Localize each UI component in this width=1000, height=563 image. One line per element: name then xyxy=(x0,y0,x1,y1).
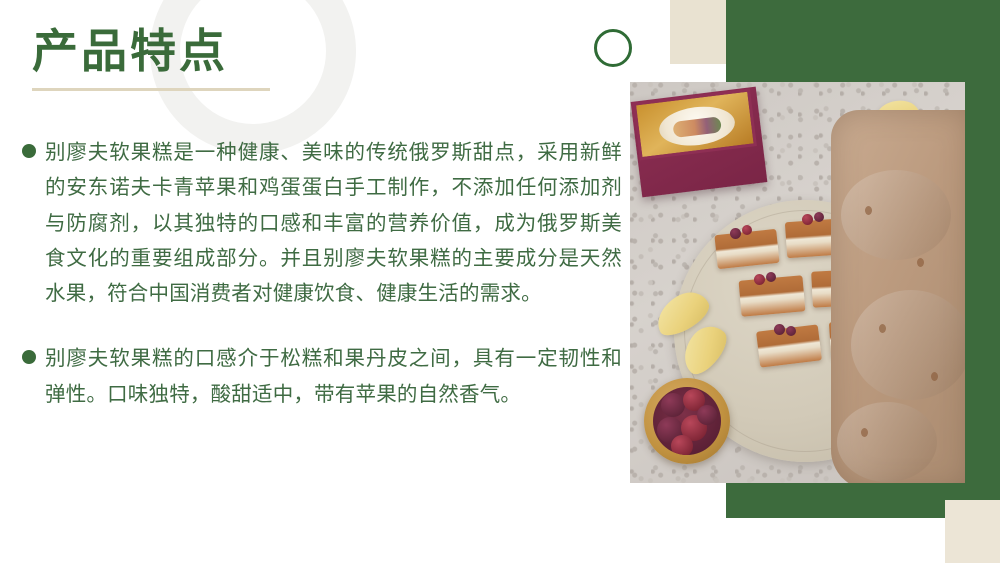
berry-garnish xyxy=(730,228,741,239)
berry-garnish xyxy=(766,272,776,282)
gift-box-label xyxy=(657,103,737,150)
slide-canvas: 产品特点 别廖夫软果糕是一种健康、美味的传统俄罗斯甜点，采用新鲜的安东诺夫卡青苹… xyxy=(0,0,1000,563)
berry-garnish xyxy=(814,212,824,222)
beige-accent-block-bottom xyxy=(945,500,1000,563)
berry-garnish xyxy=(742,225,752,235)
floral-print-motif xyxy=(865,206,872,215)
cloth-fold xyxy=(841,170,951,260)
floral-print-motif xyxy=(931,372,938,381)
page-title: 产品特点 xyxy=(32,28,270,74)
bullet-dot-icon xyxy=(22,144,36,158)
frozen-berry xyxy=(671,435,693,455)
title-underline-rule xyxy=(32,88,270,91)
floral-print-motif xyxy=(917,258,924,267)
cloth-fold xyxy=(837,402,937,482)
berry-garnish xyxy=(774,324,785,335)
circle-outline-decoration xyxy=(594,29,632,67)
floral-print-motif xyxy=(879,324,886,333)
gift-box-lid xyxy=(633,88,757,160)
bullet-paragraph: 别廖夫软果糕是一种健康、美味的传统俄罗斯甜点，采用新鲜的安东诺夫卡青苹果和鸡蛋蛋… xyxy=(22,135,622,311)
berry-garnish xyxy=(786,326,796,336)
berry-garnish xyxy=(802,214,813,225)
gift-box-package xyxy=(631,87,768,198)
title-block: 产品特点 xyxy=(32,28,270,91)
bullet-paragraph-text: 别廖夫软果糕是一种健康、美味的传统俄罗斯甜点，采用新鲜的安东诺夫卡青苹果和鸡蛋蛋… xyxy=(45,135,622,311)
bullet-paragraph: 别廖夫软果糕的口感介于松糕和果丹皮之间，具有一定韧性和弹性。口味独特，酸甜适中，… xyxy=(22,341,622,412)
product-photo-scene xyxy=(630,82,965,483)
bullet-paragraph-text: 别廖夫软果糕的口感介于松糕和果丹皮之间，具有一定韧性和弹性。口味独特，酸甜适中，… xyxy=(45,341,622,412)
berry-garnish xyxy=(754,274,765,285)
floral-print-motif xyxy=(861,428,868,437)
cloth-fold xyxy=(851,290,965,400)
bullet-dot-icon xyxy=(22,350,36,364)
linen-cloth xyxy=(831,110,965,483)
beige-accent-block-top xyxy=(670,0,727,64)
body-content: 别廖夫软果糕是一种健康、美味的传统俄罗斯甜点，采用新鲜的安东诺夫卡青苹果和鸡蛋蛋… xyxy=(22,135,622,412)
product-photo xyxy=(630,82,965,483)
